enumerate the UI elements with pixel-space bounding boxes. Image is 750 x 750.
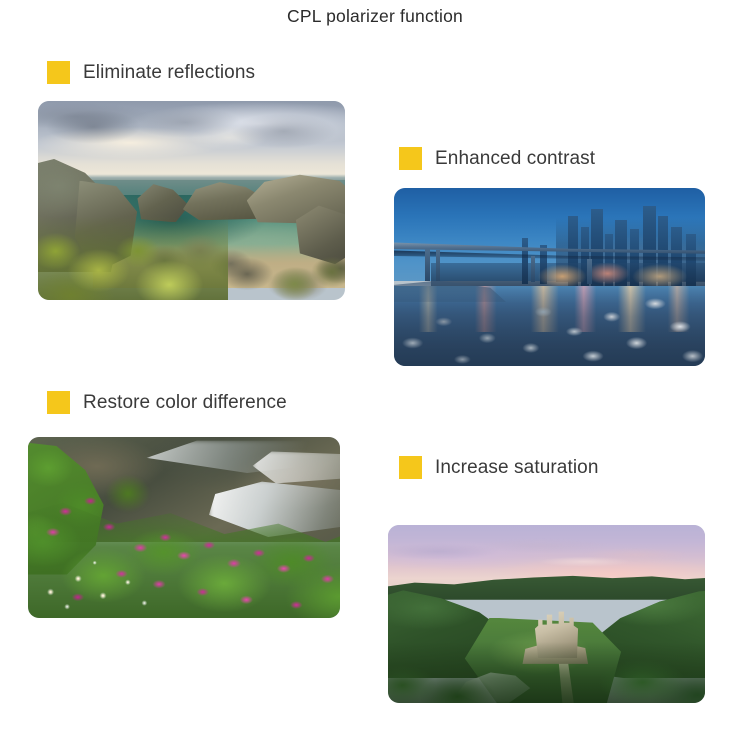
square-bullet-icon (399, 147, 422, 170)
feature-label-text: Eliminate reflections (83, 62, 255, 84)
castle-valley-photo (388, 525, 705, 703)
cloud-layer (38, 107, 345, 151)
bridge-pier (587, 259, 592, 284)
page-title: CPL polarizer function (0, 6, 750, 27)
feature-label-increase-saturation: Increase saturation (399, 456, 599, 479)
wildflowers-stream-photo (28, 437, 340, 618)
pebble-shore-layer (394, 284, 705, 366)
white-daisies-layer (34, 553, 171, 615)
square-bullet-icon (47, 391, 70, 414)
coastal-cove-photo (38, 101, 345, 300)
feature-label-restore-color-difference: Restore color difference (47, 391, 287, 414)
bridge-pier (425, 249, 430, 281)
foreground-trees-layer (388, 642, 705, 703)
pink-clouds-layer (388, 532, 705, 571)
city-bridge-scene (394, 188, 705, 366)
right-vegetation-layer (253, 248, 345, 300)
coastal-cove-scene (38, 101, 345, 300)
feature-label-text: Enhanced contrast (435, 148, 595, 170)
bridge-pier (436, 250, 440, 280)
wildflowers-stream-scene (28, 437, 340, 618)
feature-label-text: Restore color difference (83, 392, 287, 414)
square-bullet-icon (47, 61, 70, 84)
feature-label-eliminate-reflections: Eliminate reflections (47, 61, 255, 84)
feature-label-enhanced-contrast: Enhanced contrast (399, 147, 595, 170)
feature-label-text: Increase saturation (435, 457, 599, 479)
city-bridge-bluehour-photo (394, 188, 705, 366)
foreground-vegetation-layer (38, 216, 228, 300)
square-bullet-icon (399, 456, 422, 479)
bridge-pier (531, 256, 535, 283)
castle-valley-scene (388, 525, 705, 703)
